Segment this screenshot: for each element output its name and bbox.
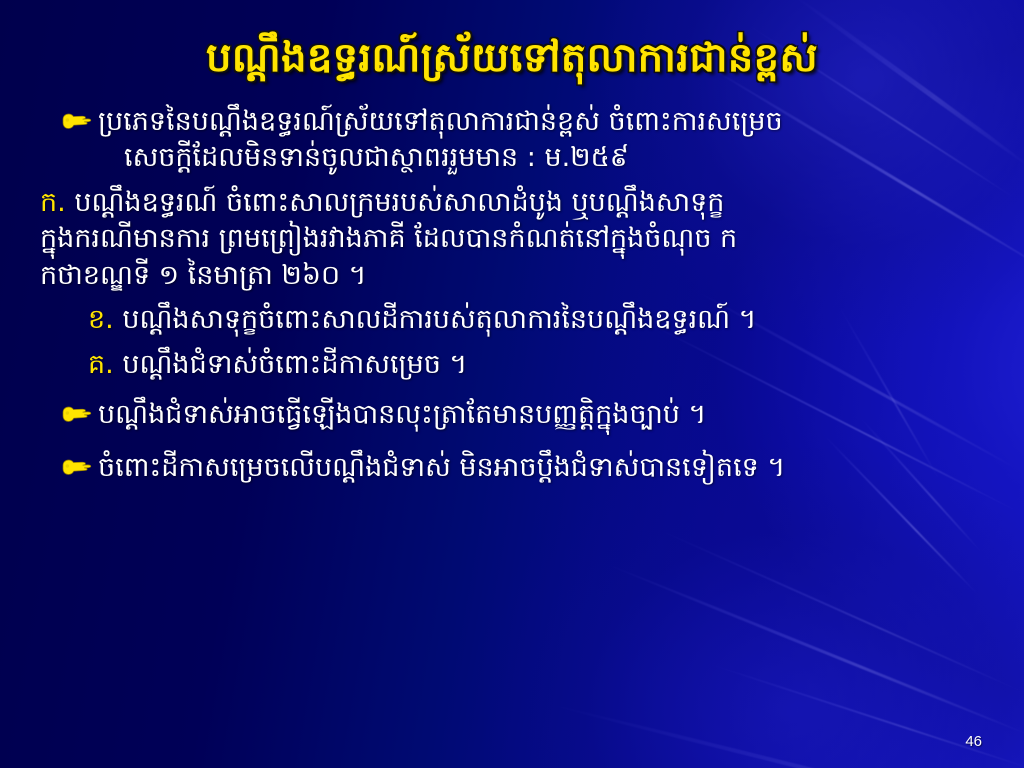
pointing-hand-icon bbox=[60, 106, 94, 136]
lettered-paragraph-kha: ខ. បណ្តឹងសាទុក្ខចំពោះសាលដីការបស់តុលាការន… bbox=[40, 302, 998, 338]
bullet-paragraph: ប្រភេទនៃបណ្តឹងឧទ្ធរណ៍ស្រ័យទៅតុលាការជាន់ខ… bbox=[40, 104, 998, 177]
text-line: ក្នុងករណីមានការ ព្រមព្រៀងរវាងភាគី ដែលបាន… bbox=[40, 221, 998, 257]
pointing-hand-icon bbox=[60, 399, 94, 429]
text-line: បណ្តឹងជំទាស់អាចធ្វើឡើងបានលុះត្រាតែមានបញ្… bbox=[98, 397, 998, 433]
text-line: ចំពោះដីកាសម្រេចលើបណ្តឹងជំទាស់ មិនអាចប្តឹ… bbox=[98, 450, 998, 486]
text-line: ក. បណ្តឹងឧទ្ធរណ៍ ចំពោះសាលក្រមរបស់សាលាដំប… bbox=[40, 185, 998, 221]
bullet-paragraph: ចំពោះដីកាសម្រេចលើបណ្តឹងជំទាស់ មិនអាចប្តឹ… bbox=[40, 450, 998, 486]
slide-body: ប្រភេទនៃបណ្តឹងឧទ្ធរណ៍ស្រ័យទៅតុលាការជាន់ខ… bbox=[0, 104, 1024, 494]
pointing-hand-icon bbox=[60, 452, 94, 482]
presentation-slide: បណ្តឹងឧទ្ធរណ៍ស្រ័យទៅតុលាការជាន់ខ្ពស់ ប្រ… bbox=[0, 0, 1024, 768]
paragraph-lines: បណ្តឹងជំទាស់អាចធ្វើឡើងបានលុះត្រាតែមានបញ្… bbox=[98, 397, 998, 433]
list-marker: ក. bbox=[40, 187, 66, 218]
paragraph-lines: ប្រភេទនៃបណ្តឹងឧទ្ធរណ៍ស្រ័យទៅតុលាការជាន់ខ… bbox=[98, 104, 998, 177]
text-line: ប្រភេទនៃបណ្តឹងឧទ្ធរណ៍ស្រ័យទៅតុលាការជាន់ខ… bbox=[98, 104, 998, 140]
paragraph-lines: ខ. បណ្តឹងសាទុក្ខចំពោះសាលដីការបស់តុលាការន… bbox=[88, 302, 998, 338]
paragraph-lines: គ. បណ្តឹងជំទាស់ចំពោះដីកាសម្រេច ។ bbox=[88, 347, 998, 383]
text-line: កថាខណ្ឌទី ១ នៃមាត្រា ២៦០ ។ bbox=[40, 258, 998, 294]
text-line-body: បណ្តឹងសាទុក្ខចំពោះសាលដីការបស់តុលាការនៃបណ… bbox=[122, 304, 756, 335]
lettered-paragraph-ko: គ. បណ្តឹងជំទាស់ចំពោះដីកាសម្រេច ។ bbox=[40, 347, 998, 383]
text-line-body: បណ្តឹងជំទាស់ចំពោះដីកាសម្រេច ។ bbox=[122, 349, 467, 380]
text-line: សេចក្តីដែលមិនទាន់ចូលជាស្ថាពររួមមាន : ម.២… bbox=[98, 140, 998, 176]
paragraph-lines: ចំពោះដីកាសម្រេចលើបណ្តឹងជំទាស់ មិនអាចប្តឹ… bbox=[98, 450, 998, 486]
text-line-body: បណ្តឹងឧទ្ធរណ៍ ចំពោះសាលក្រមរបស់សាលាដំបូង … bbox=[74, 187, 724, 218]
page-title: បណ្តឹងឧទ្ធរណ៍ស្រ័យទៅតុលាការជាន់ខ្ពស់ bbox=[206, 35, 818, 81]
bullet-paragraph: បណ្តឹងជំទាស់អាចធ្វើឡើងបានលុះត្រាតែមានបញ្… bbox=[40, 397, 998, 433]
text-line: គ. បណ្តឹងជំទាស់ចំពោះដីកាសម្រេច ។ bbox=[88, 347, 998, 383]
background-glow-bottom-right bbox=[484, 448, 1024, 768]
list-marker: គ. bbox=[88, 349, 114, 380]
page-number: 46 bbox=[965, 733, 982, 750]
lettered-paragraph-ka: ក. បណ្តឹងឧទ្ធរណ៍ ចំពោះសាលក្រមរបស់សាលាដំប… bbox=[40, 185, 998, 294]
paragraph-lines: ក. បណ្តឹងឧទ្ធរណ៍ ចំពោះសាលក្រមរបស់សាលាដំប… bbox=[88, 185, 998, 294]
title-bar: បណ្តឹងឧទ្ធរណ៍ស្រ័យទៅតុលាការជាន់ខ្ពស់ bbox=[0, 8, 1024, 108]
text-line: ខ. បណ្តឹងសាទុក្ខចំពោះសាលដីការបស់តុលាការន… bbox=[88, 302, 998, 338]
list-marker: ខ. bbox=[88, 304, 114, 335]
